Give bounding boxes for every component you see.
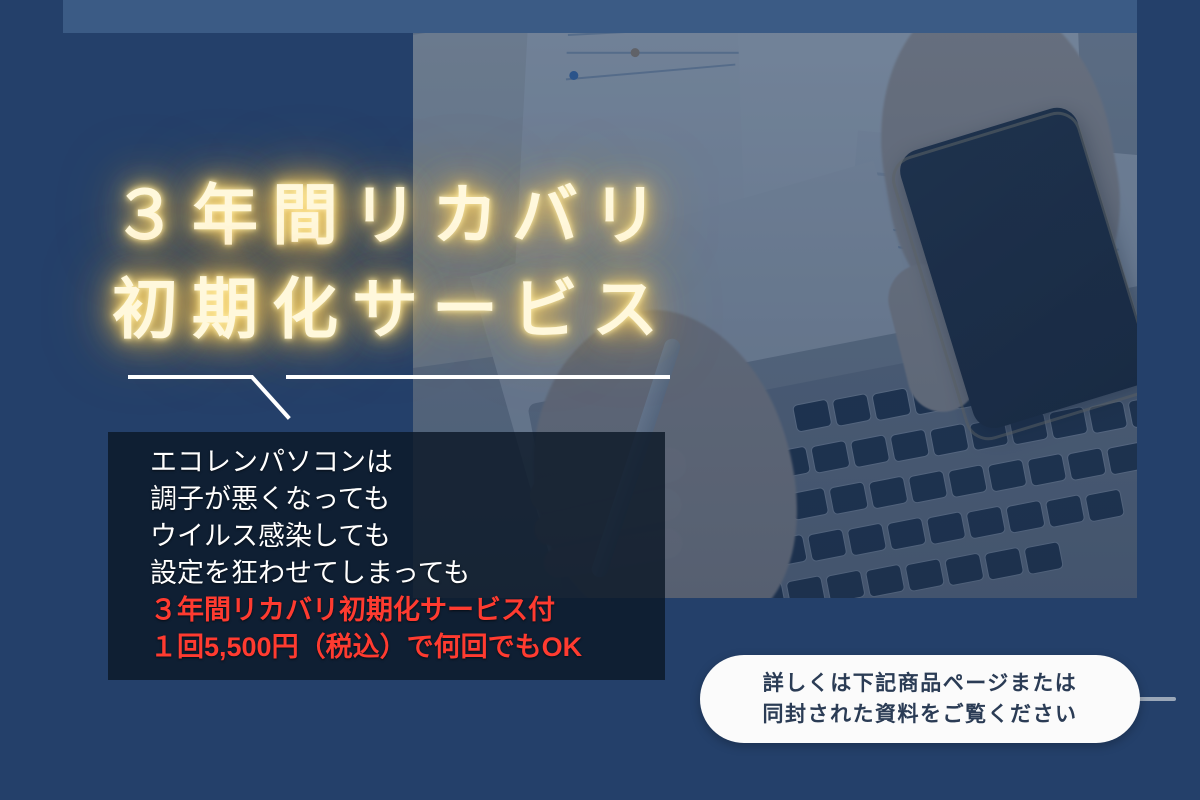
callout-pill[interactable]: 詳しくは下記商品ページまたは 同封された資料をご覧ください xyxy=(700,655,1140,743)
body-line-4: 設定を狂わせてしまっても xyxy=(150,555,690,592)
headline-line-2: 初期化サービス xyxy=(112,262,872,356)
page-title: ３年間リカバリ 初期化サービス xyxy=(112,168,872,356)
body-line-6-price: １回5,500円（税込）で何回でもOK xyxy=(150,629,690,666)
pill-line-2: 同封された資料をご覧ください xyxy=(763,699,1078,730)
pill-line-1: 詳しくは下記商品ページまたは xyxy=(763,668,1078,699)
body-text-block: エコレンパソコンは 調子が悪くなっても ウイルス感染しても 設定を狂わせてしまっ… xyxy=(150,444,690,666)
left-navy-panel xyxy=(0,0,413,800)
top-accent-band-overlay xyxy=(63,0,1137,33)
body-line-2: 調子が悪くなっても xyxy=(150,481,690,518)
headline-line-1: ３年間リカバリ xyxy=(112,168,872,262)
body-line-1: エコレンパソコンは xyxy=(150,444,690,481)
banner-canvas: ３年間リカバリ 初期化サービス エコレンパソコンは 調子が悪くなっても ウイルス… xyxy=(0,0,1200,800)
body-line-5-highlight: ３年間リカバリ初期化サービス付 xyxy=(150,592,690,629)
right-navy-edge xyxy=(1137,0,1200,800)
body-line-3: ウイルス感染しても xyxy=(150,518,690,555)
